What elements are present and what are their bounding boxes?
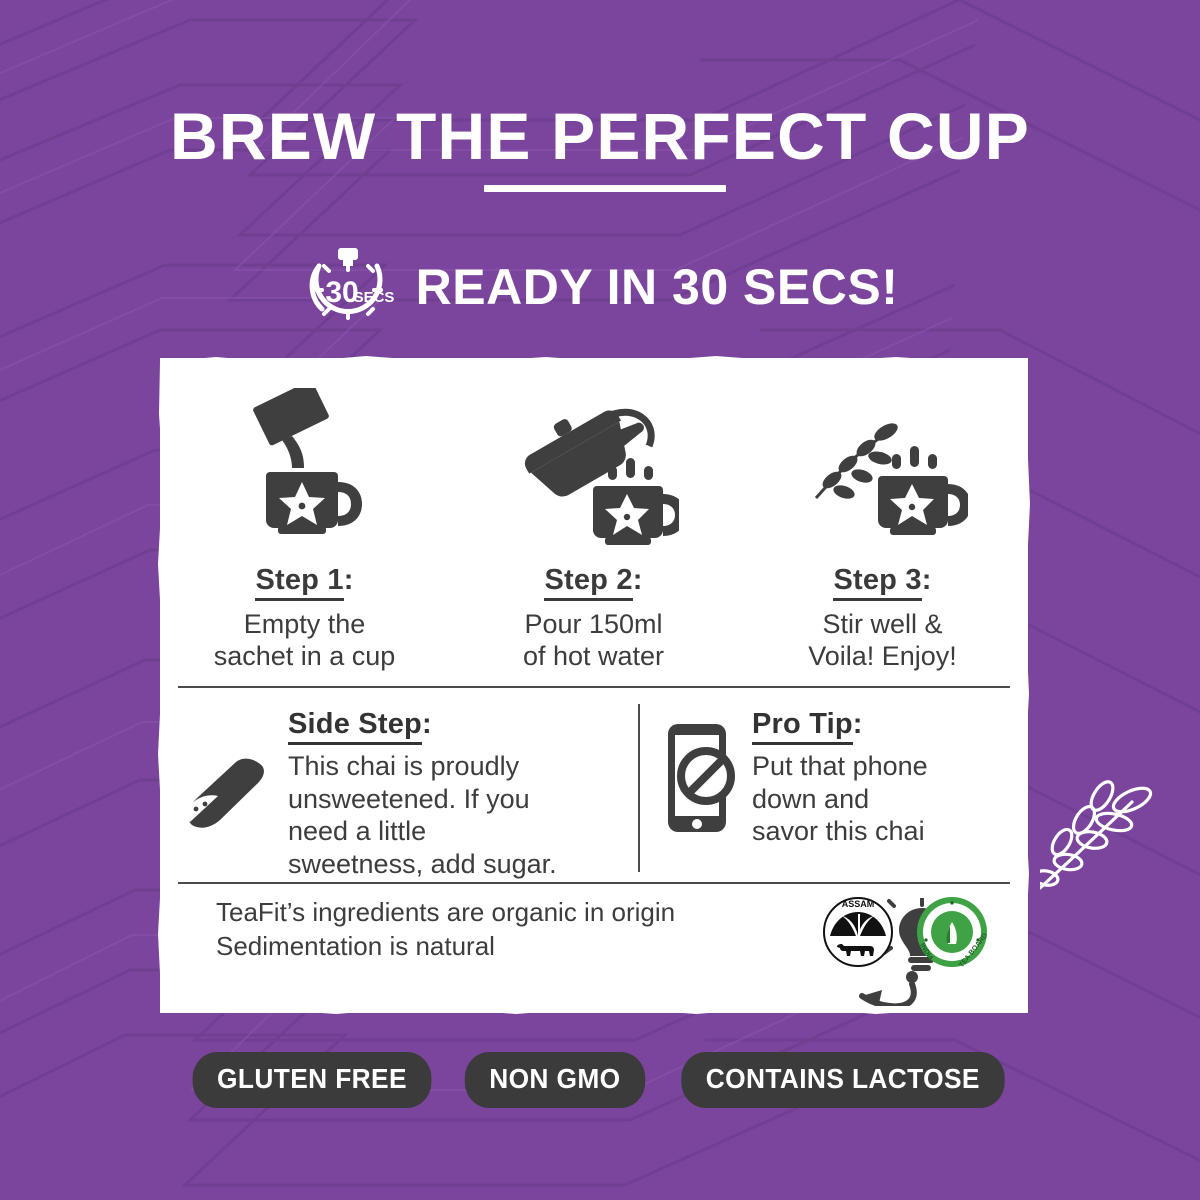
- step-item: Step 2: Pour 150ml of hot water: [449, 388, 738, 673]
- ready-badge-label: READY IN 30 SECS!: [416, 262, 899, 312]
- step-title: Step 3:: [833, 564, 931, 597]
- step-2-art: [509, 388, 679, 548]
- pro-tip-copy: Pro Tip: Put that phone down and savor t…: [744, 708, 928, 848]
- pro-tip-title-text: Pro Tip: [752, 708, 853, 745]
- sugar-spoon-icon: [178, 752, 270, 844]
- step-item: Step 3: Stir well & Voila! Enjoy!: [738, 388, 1027, 673]
- stopwatch-unit: SECS: [353, 289, 393, 306]
- step-title: Step 1:: [255, 564, 353, 597]
- botanical-sprig-decoration: [1040, 770, 1180, 900]
- divider-bottom: [178, 882, 1010, 884]
- side-step-title-text: Side Step: [288, 708, 422, 745]
- step-body: Empty the sachet in a cup: [214, 609, 396, 673]
- side-step-body: This chai is proudly unsweetened. If you…: [288, 750, 557, 881]
- divider-vertical: [638, 704, 640, 872]
- step-body: Pour 150ml of hot water: [523, 609, 664, 673]
- claims-pill-row: GLUTEN FREE NON GMO CONTAINS LACTOSE: [0, 1052, 1200, 1108]
- step-body: Stir well & Voila! Enjoy!: [808, 609, 957, 673]
- step-1-art: [230, 388, 380, 548]
- step-title-text: Step 1: [255, 564, 343, 601]
- assam-seal-label: ASSAM: [842, 899, 875, 909]
- pro-tip-block: Pro Tip: Put that phone down and savor t…: [660, 708, 1020, 848]
- side-step-title: Side Step:: [288, 708, 557, 741]
- step-title-colon: :: [633, 564, 643, 596]
- pill-contains-lactose[interactable]: CONTAINS LACTOSE: [681, 1052, 1004, 1108]
- assam-seal: ASSAM: [822, 896, 894, 973]
- side-step-title-colon: :: [422, 708, 432, 740]
- pro-tip-title-colon: :: [853, 708, 863, 740]
- side-step-copy: Side Step: This chai is proudly unsweete…: [270, 708, 557, 881]
- kettle-pouring-into-mug-icon: [509, 388, 679, 548]
- ready-badge: 30 SECS READY IN 30 SECS!: [0, 244, 1200, 330]
- pill-gluten-free[interactable]: GLUTEN FREE: [193, 1052, 432, 1108]
- side-step-art: [178, 708, 270, 844]
- tea-board-india-seal: TEA BOARD INDIA: [916, 896, 988, 973]
- poster-root: BREW THE PERFECT CUP 30 SECS REA: [0, 0, 1200, 1200]
- divider-top: [178, 686, 1010, 688]
- step-title-text: Step 3: [833, 564, 921, 601]
- pro-tip-body: Put that phone down and savor this chai: [752, 750, 928, 848]
- sachet-pouring-into-mug-icon: [230, 388, 380, 548]
- phone-no-entry-icon: [660, 718, 744, 838]
- steps-row: Step 1: Empty the sachet in a cup: [160, 388, 1028, 673]
- step-title-colon: :: [922, 564, 932, 596]
- instructions-card: Step 1: Empty the sachet in a cup: [160, 358, 1028, 1013]
- pro-tip-title: Pro Tip:: [752, 708, 928, 741]
- step-title-text: Step 2: [544, 564, 632, 601]
- footnote-text: TeaFit’s ingredients are organic in orig…: [216, 896, 675, 964]
- mug-with-sprig-icon: [798, 388, 968, 548]
- pill-non-gmo[interactable]: NON GMO: [465, 1052, 645, 1108]
- pro-tip-art: [660, 708, 744, 838]
- page-title: BREW THE PERFECT CUP: [0, 98, 1200, 174]
- step-title: Step 2:: [544, 564, 642, 597]
- side-step-block: Side Step: This chai is proudly unsweete…: [178, 708, 633, 881]
- stopwatch-30-secs-icon: 30 SECS: [302, 244, 394, 330]
- step-title-colon: :: [344, 564, 354, 596]
- title-underline-rule: [484, 185, 726, 192]
- step-item: Step 1: Empty the sachet in a cup: [160, 388, 449, 673]
- step-3-art: [798, 388, 968, 548]
